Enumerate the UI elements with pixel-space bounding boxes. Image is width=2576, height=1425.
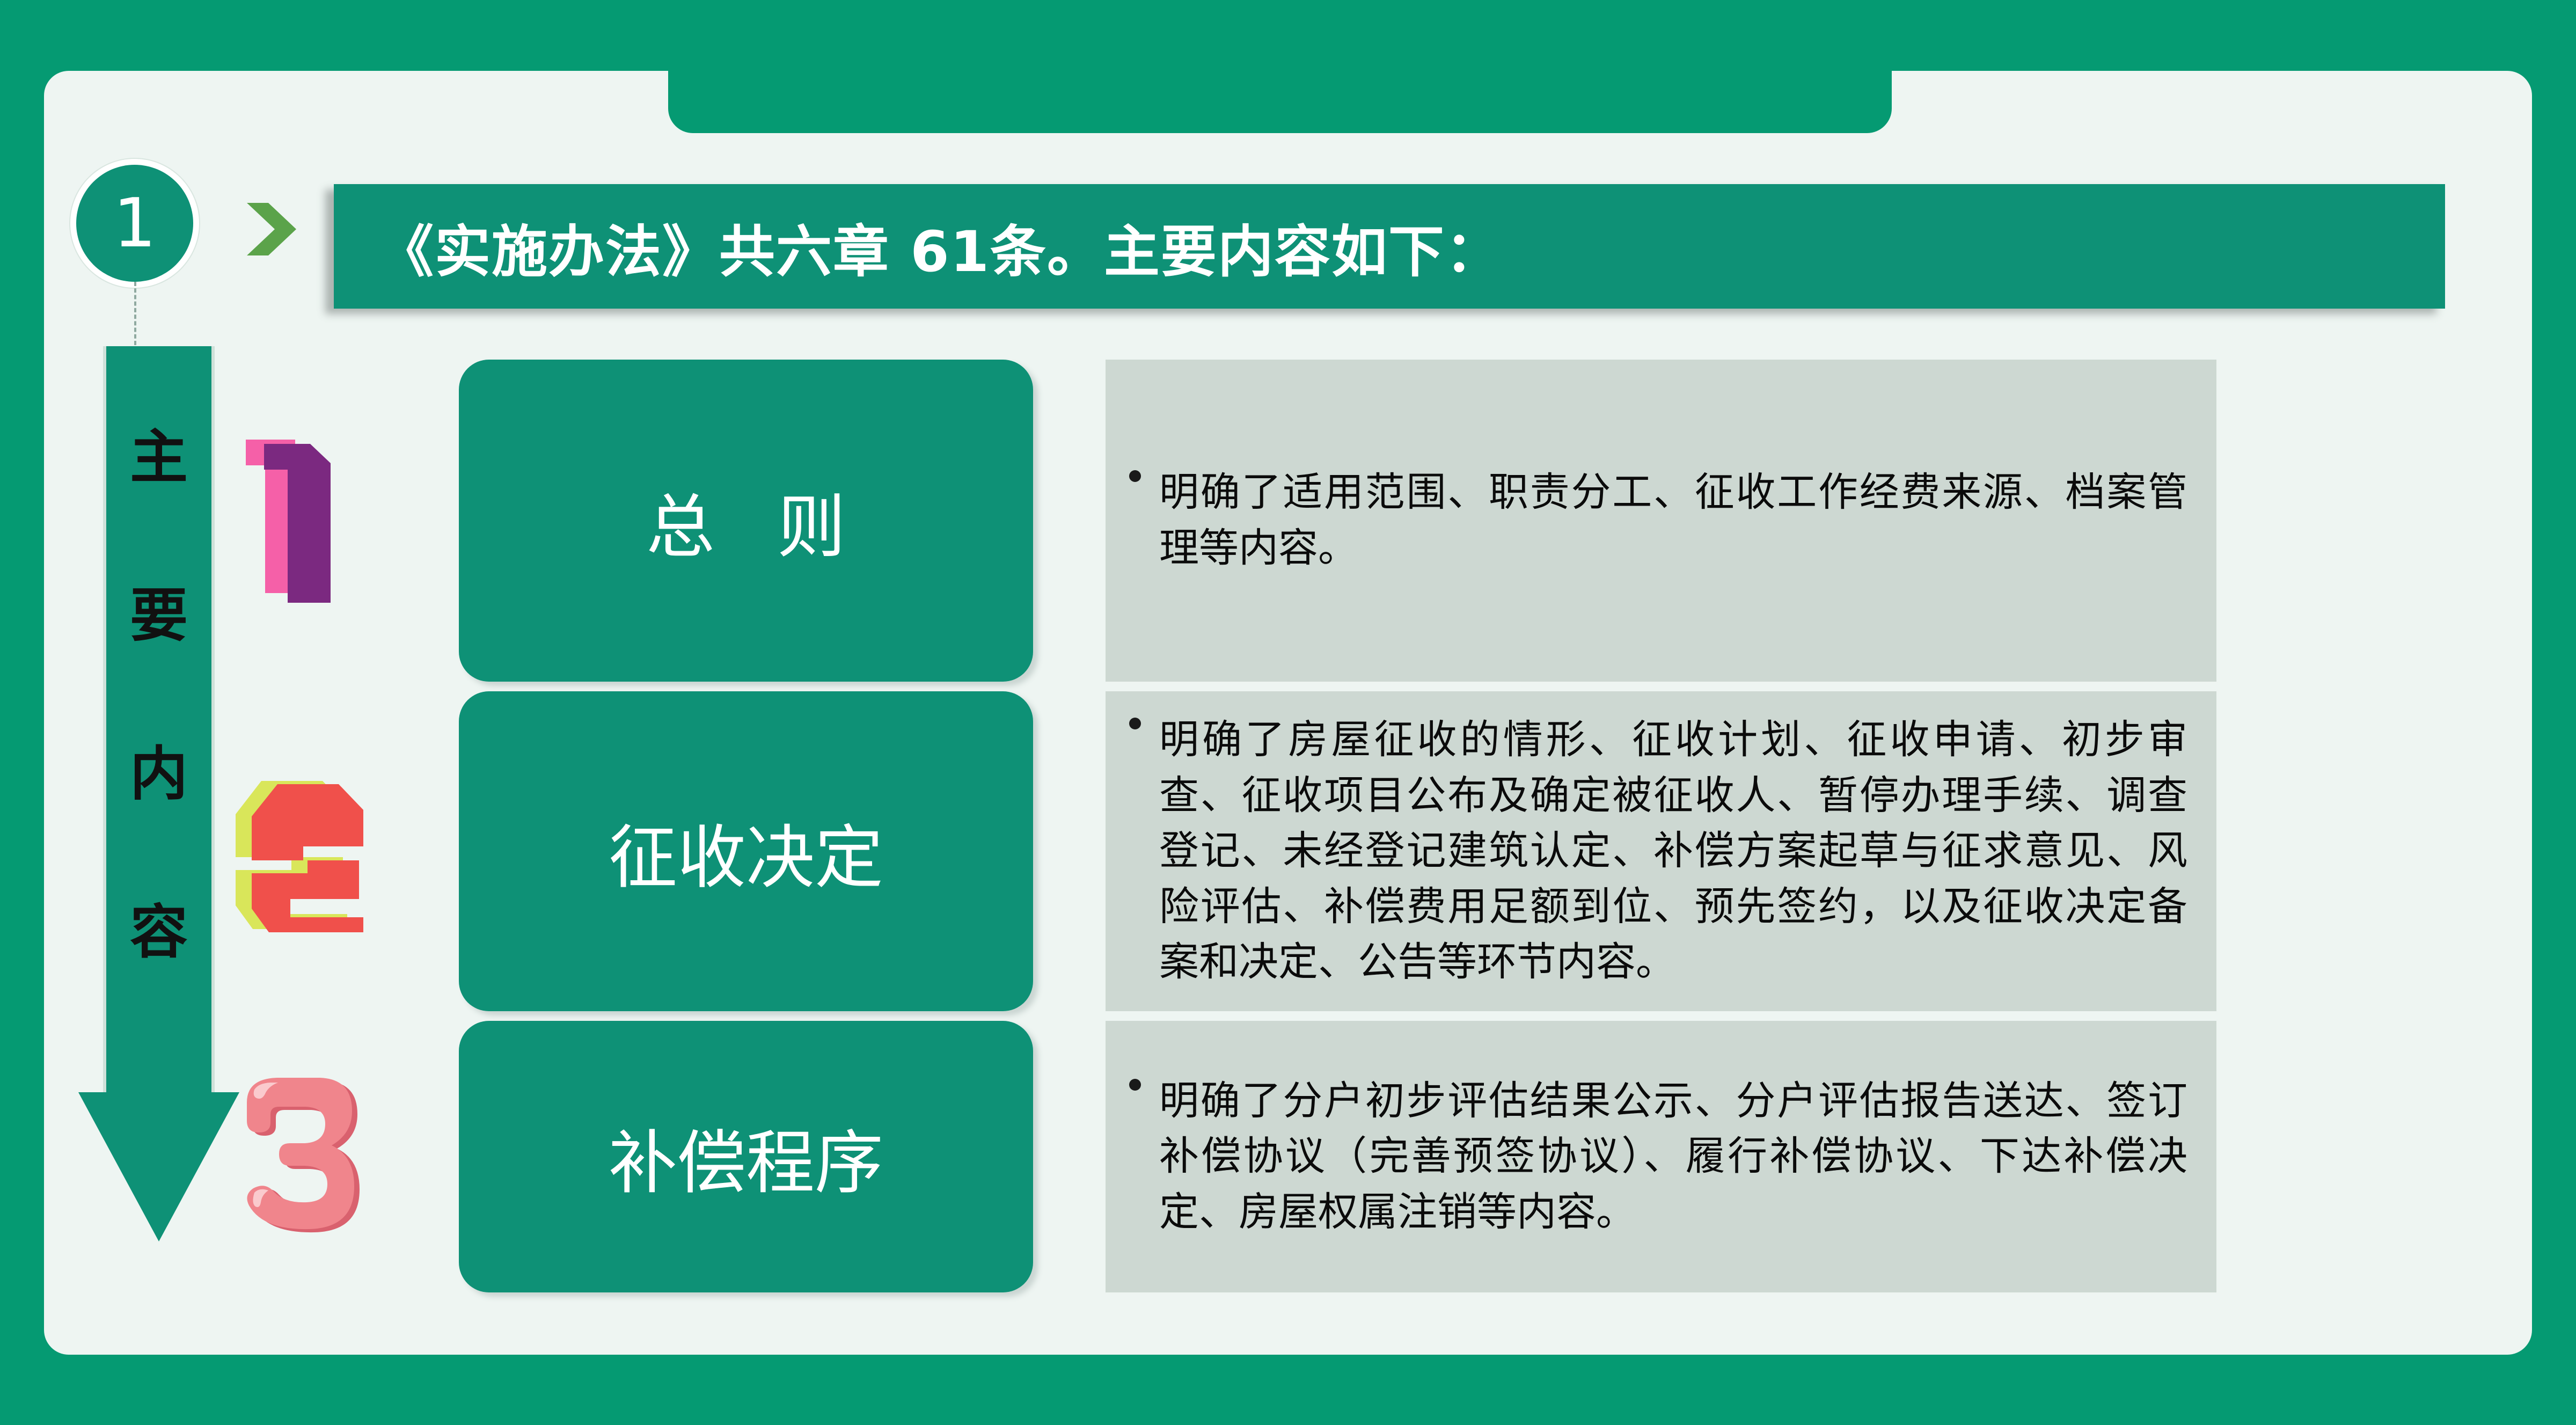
decorative-numeral-3 xyxy=(225,1021,386,1292)
chevron-right-icon xyxy=(243,200,301,259)
section-detail-text: 明确了适用范围、职责分工、征收工作经费来源、档案管理等内容。 xyxy=(1159,465,2187,576)
section-detail-panel: 明确了房屋征收的情形、征收计划、征收申请、初步审查、征收项目公布及确定被征收人、… xyxy=(1106,691,2216,1011)
section-label: 征收决定 xyxy=(609,802,883,901)
page-title: 《实施办法》共六章 61条。主要内容如下： xyxy=(334,206,1502,287)
step-badge-number: 1 xyxy=(113,189,156,257)
top-notch-tab xyxy=(668,0,1892,133)
content-row: 补偿程序 明确了分户初步评估结果公示、分户评估报告送达、签订补偿协议（完善预签协… xyxy=(225,1021,2211,1292)
decorative-numeral-2 xyxy=(225,691,386,1011)
section-detail-text: 明确了房屋征收的情形、征收计划、征收申请、初步审查、征收项目公布及确定被征收人、… xyxy=(1159,712,2187,990)
section-label-box: 补偿程序 xyxy=(459,1021,1033,1292)
decorative-numeral-1 xyxy=(225,360,386,682)
badge-connector-line xyxy=(134,282,136,345)
section-detail-text: 明确了分户初步评估结果公示、分户评估报告送达、签订补偿协议（完善预签协议）、履行… xyxy=(1159,1073,2187,1240)
content-row: 总则 明确了适用范围、职责分工、征收工作经费来源、档案管理等内容。 xyxy=(225,360,2211,682)
section-detail-panel: 明确了适用范围、职责分工、征收工作经费来源、档案管理等内容。 xyxy=(1106,360,2216,682)
section-label-box: 征收决定 xyxy=(459,691,1033,1011)
main-content-arrow: 主要内容 xyxy=(78,346,239,1240)
arrow-head xyxy=(78,1092,239,1241)
section-detail-panel: 明确了分户初步评估结果公示、分户评估报告送达、签订补偿协议（完善预签协议）、履行… xyxy=(1106,1021,2216,1292)
bullet-icon xyxy=(1129,470,1141,482)
slide-canvas: 1 主要内容 《实施办法》共六章 61条。主要内容如下： 总则 明确了 xyxy=(0,0,2576,1425)
title-banner: 《实施办法》共六章 61条。主要内容如下： xyxy=(334,184,2445,309)
content-row: 征收决定 明确了房屋征收的情形、征收计划、征收申请、初步审查、征收项目公布及确定… xyxy=(225,691,2211,1011)
step-badge-circle: 1 xyxy=(76,165,193,282)
bullet-icon xyxy=(1129,1079,1141,1091)
arrow-vertical-label: 主要内容 xyxy=(106,378,211,1012)
bullet-icon xyxy=(1129,718,1141,729)
section-label: 补偿程序 xyxy=(609,1107,883,1207)
section-label-box: 总则 xyxy=(459,360,1033,682)
section-label: 总则 xyxy=(584,471,908,571)
